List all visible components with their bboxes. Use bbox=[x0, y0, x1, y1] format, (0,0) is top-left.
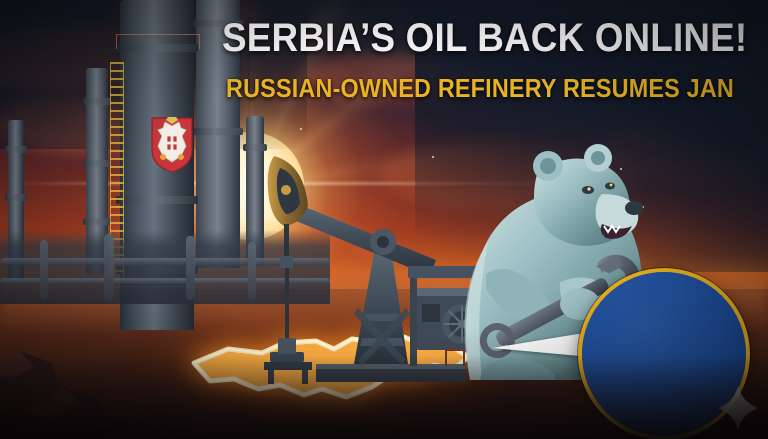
ground-shadow bbox=[0, 355, 768, 439]
headline: SERBIA’S OIL BACK ONLINE! bbox=[222, 16, 747, 60]
subheadline: RUSSIAN-OWNED REFINERY RESUMES JAN bbox=[226, 73, 734, 103]
news-thumbnail: SERBIA’S OIL BACK ONLINE! RUSSIAN-OWNED … bbox=[0, 0, 768, 439]
tower-railing bbox=[116, 34, 200, 49]
serbian-coat-of-arms bbox=[150, 116, 194, 174]
